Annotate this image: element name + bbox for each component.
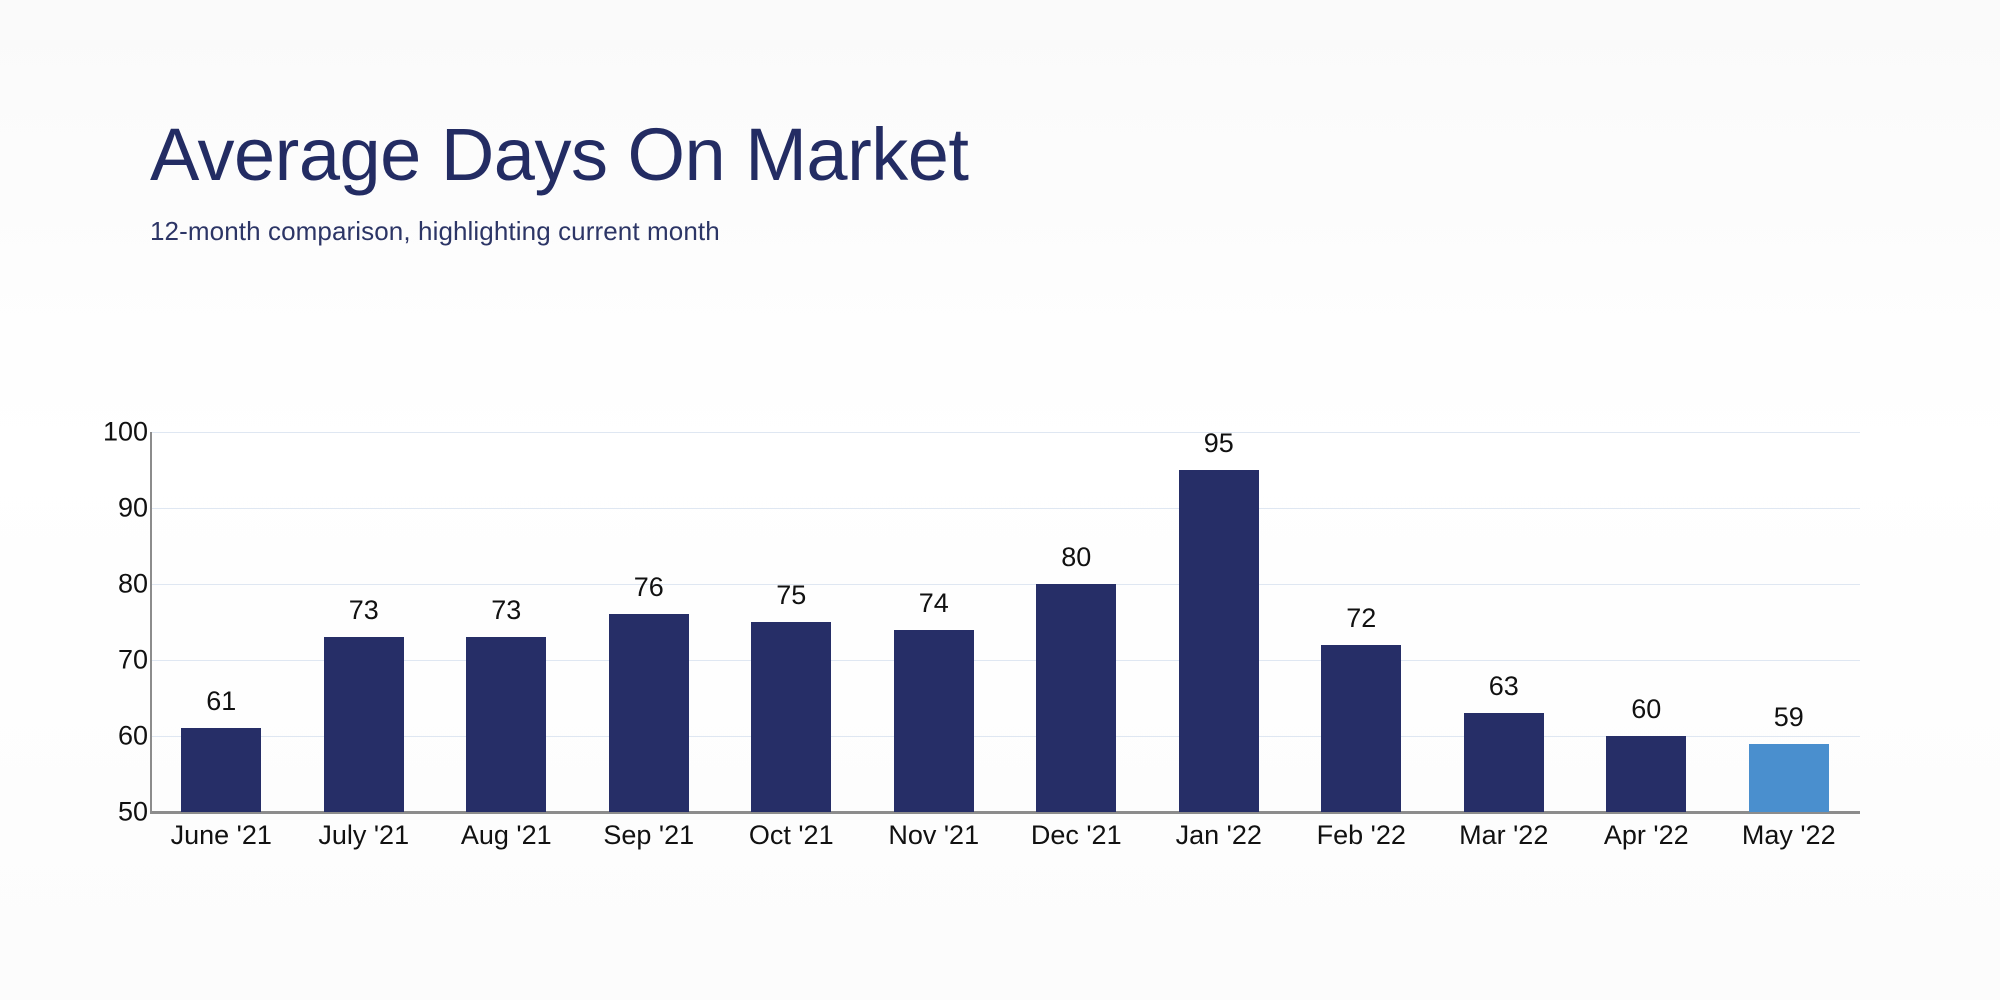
- bar[interactable]: 95: [1179, 470, 1259, 812]
- bar-value-label: 60: [1631, 694, 1661, 725]
- bar[interactable]: 76: [609, 614, 689, 812]
- bar-slot: 59: [1718, 432, 1861, 812]
- bar-slot: 63: [1433, 432, 1576, 812]
- y-axis-tick-label: 80: [118, 569, 148, 600]
- bar[interactable]: 60: [1606, 736, 1686, 812]
- bar-value-label: 74: [919, 588, 949, 619]
- x-axis-tick-label: Apr '22: [1604, 820, 1689, 850]
- bar-highlighted[interactable]: 59: [1749, 744, 1829, 812]
- chart-header: Average Days On Market 12-month comparis…: [150, 118, 1850, 247]
- bar[interactable]: 73: [324, 637, 404, 812]
- bar-value-label: 73: [491, 595, 521, 626]
- x-axis-tick-labels: June '21July '21Aug '21Sep '21Oct '21Nov…: [150, 820, 1860, 851]
- x-axis-tick-label: June '21: [171, 820, 272, 850]
- x-axis-slot: Aug '21: [435, 820, 578, 851]
- x-axis-slot: July '21: [293, 820, 436, 851]
- bar[interactable]: 63: [1464, 713, 1544, 812]
- bar-slot: 95: [1148, 432, 1291, 812]
- bar[interactable]: 80: [1036, 584, 1116, 812]
- bar-series: 617373767574809572636059: [150, 432, 1860, 812]
- x-axis-slot: May '22: [1718, 820, 1861, 851]
- chart-subtitle: 12-month comparison, highlighting curren…: [150, 216, 1850, 247]
- bar-slot: 72: [1290, 432, 1433, 812]
- x-axis-tick-label: July '21: [318, 820, 409, 850]
- x-axis-slot: Oct '21: [720, 820, 863, 851]
- x-axis-tick-label: Feb '22: [1317, 820, 1406, 850]
- bar-value-label: 72: [1346, 603, 1376, 634]
- y-axis-tick-label: 50: [118, 797, 148, 828]
- bar-value-label: 76: [634, 572, 664, 603]
- bar-value-label: 75: [776, 580, 806, 611]
- x-axis-slot: Nov '21: [863, 820, 1006, 851]
- x-axis-tick-label: Jan '22: [1176, 820, 1262, 850]
- y-axis-tick-label: 70: [118, 645, 148, 676]
- x-axis-slot: Jan '22: [1148, 820, 1291, 851]
- bar-value-label: 59: [1774, 702, 1804, 733]
- bar[interactable]: 74: [894, 630, 974, 812]
- bar[interactable]: 73: [466, 637, 546, 812]
- y-axis-tick-label: 100: [103, 417, 148, 448]
- bar-value-label: 80: [1061, 542, 1091, 573]
- bar-slot: 76: [578, 432, 721, 812]
- bar-slot: 60: [1575, 432, 1718, 812]
- x-axis-tick-label: Nov '21: [888, 820, 979, 850]
- x-axis-tick-label: Mar '22: [1459, 820, 1548, 850]
- y-axis-tick-label: 60: [118, 721, 148, 752]
- x-axis-slot: Sep '21: [578, 820, 721, 851]
- bar-slot: 61: [150, 432, 293, 812]
- bar-slot: 80: [1005, 432, 1148, 812]
- bar-value-label: 95: [1204, 428, 1234, 459]
- bar-slot: 74: [863, 432, 1006, 812]
- x-axis-tick-label: Aug '21: [461, 820, 552, 850]
- bar[interactable]: 75: [751, 622, 831, 812]
- bar-slot: 73: [293, 432, 436, 812]
- x-axis-slot: Feb '22: [1290, 820, 1433, 851]
- x-axis-tick-label: May '22: [1742, 820, 1836, 850]
- x-axis-tick-label: Oct '21: [749, 820, 834, 850]
- bar[interactable]: 72: [1321, 645, 1401, 812]
- bar[interactable]: 61: [181, 728, 261, 812]
- slide-canvas: Average Days On Market 12-month comparis…: [0, 0, 2000, 1000]
- x-axis-slot: Mar '22: [1433, 820, 1576, 851]
- bar-slot: 73: [435, 432, 578, 812]
- x-axis-slot: Apr '22: [1575, 820, 1718, 851]
- y-axis-tick-label: 90: [118, 493, 148, 524]
- bar-value-label: 61: [206, 686, 236, 717]
- x-axis-tick-label: Dec '21: [1031, 820, 1122, 850]
- x-axis-slot: June '21: [150, 820, 293, 851]
- x-axis-tick-label: Sep '21: [603, 820, 694, 850]
- bar-value-label: 63: [1489, 671, 1519, 702]
- bar-value-label: 73: [349, 595, 379, 626]
- chart-plot-area: 5060708090100 617373767574809572636059 J…: [150, 432, 1860, 812]
- x-axis-slot: Dec '21: [1005, 820, 1148, 851]
- bar-slot: 75: [720, 432, 863, 812]
- y-axis-tick-labels: 5060708090100: [90, 432, 148, 812]
- page-title: Average Days On Market: [150, 118, 1850, 192]
